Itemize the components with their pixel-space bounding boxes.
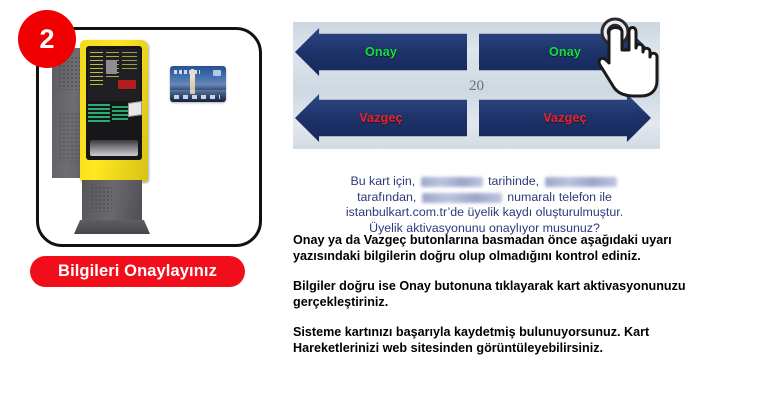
kiosk-pedestal-grille xyxy=(90,186,112,212)
redacted-date xyxy=(421,177,483,187)
vazgec-left-label: Vazgeç xyxy=(359,111,403,125)
step-number-label: 2 xyxy=(39,26,54,53)
vazgec-right-label: Vazgeç xyxy=(543,111,587,125)
kiosk-illustration xyxy=(52,40,157,235)
vazgec-button-left[interactable]: Vazgeç xyxy=(295,94,467,142)
card-logo-text xyxy=(174,70,200,74)
kiosk-msg-seg-1b: tarihinde, xyxy=(488,174,539,188)
vazgec-button-row: Vazgeç Vazgeç xyxy=(293,94,660,142)
onay-right-label: Onay xyxy=(549,45,581,59)
kiosk-message-line-1: Bu kart için, tarihinde, xyxy=(301,174,668,190)
countdown-counter: 20 xyxy=(293,78,660,95)
instruction-paragraph-3: Sisteme kartınızı başarıyla kaydetmiş bu… xyxy=(293,324,693,357)
vazgec-button-right[interactable]: Vazgeç xyxy=(479,94,651,142)
kiosk-card-slot xyxy=(106,60,117,74)
step-caption-pill: Bilgileri Onaylayınız xyxy=(30,256,245,287)
kiosk-receipt-slot xyxy=(118,80,136,89)
kiosk-msg-seg-2a: tarafından, xyxy=(357,190,416,204)
kiosk-message-line-3: istanbulkart.com.tr’de üyelik kaydı oluş… xyxy=(301,205,668,221)
instruction-text-block: Onay ya da Vazgeç butonlarına basmadan ö… xyxy=(293,232,693,356)
onay-button-left[interactable]: Onay xyxy=(295,28,467,76)
kiosk-msg-seg-2b: numaralı telefon ile xyxy=(507,190,612,204)
kiosk-message-line-2: tarafından, numaralı telefon ile xyxy=(301,190,668,206)
kiosk-dispenser-tray xyxy=(90,140,138,156)
kiosk-keypad-left xyxy=(88,104,110,122)
kiosk-screen-text-col-1 xyxy=(90,52,103,86)
step-caption-label: Bilgileri Onaylayınız xyxy=(58,262,217,281)
istanbulkart-card-image xyxy=(170,66,226,102)
kiosk-base-foot xyxy=(74,220,150,234)
kiosk-screen-screenshot: Onay Onay 20 Vazgeç Vazgeç xyxy=(293,22,660,149)
kiosk-pinpad xyxy=(128,101,142,117)
step-number-badge: 2 xyxy=(18,10,76,68)
instruction-paragraph-1: Onay ya da Vazgeç butonlarına basmadan ö… xyxy=(293,232,693,265)
instruction-paragraph-2: Bilgiler doğru ise Onay butonuna tıklaya… xyxy=(293,278,693,311)
redacted-phone xyxy=(422,193,502,203)
onay-button-right[interactable]: Onay xyxy=(479,28,651,76)
kiosk-warning-message: Bu kart için, tarihinde, tarafından, num… xyxy=(301,174,668,236)
instruction-column: Onay Onay 20 Vazgeç Vazgeç xyxy=(285,0,780,400)
card-chip-icon xyxy=(213,70,221,76)
screenshot-root: 2 xyxy=(0,0,780,400)
kiosk-keypad-right xyxy=(112,104,128,120)
onay-button-row: Onay Onay xyxy=(293,28,660,76)
redacted-name xyxy=(545,177,617,187)
card-bottom-text xyxy=(174,95,220,99)
kiosk-screen-text-col-3 xyxy=(122,52,137,72)
step-illustration-column: 2 xyxy=(0,0,285,400)
onay-left-label: Onay xyxy=(365,45,397,59)
kiosk-msg-seg-1a: Bu kart için, xyxy=(350,174,415,188)
